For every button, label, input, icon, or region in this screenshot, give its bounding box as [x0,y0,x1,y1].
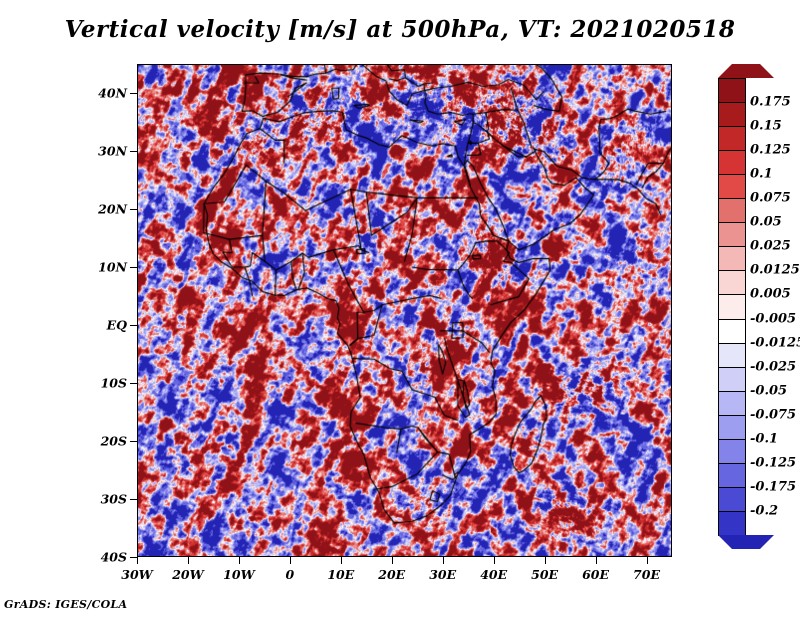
y-axis-tick [130,557,137,558]
y-axis-label: 40S [101,550,127,565]
plot-frame [137,64,672,557]
y-axis-tick [130,151,137,152]
x-axis-label: 30E [429,567,456,582]
x-axis-tick [392,557,393,564]
colorbar-tick-label: -0.175 [750,479,796,494]
colorbar-tick-label: -0.025 [750,359,796,374]
y-axis-label: 40N [98,86,127,101]
colorbar-segment [718,415,746,440]
colorbar-segment [718,343,746,368]
colorbar: 0.1750.150.1250.10.0750.050.0250.01250.0… [718,64,746,549]
y-axis-label: 10N [98,260,127,275]
x-axis-label: 20E [378,567,405,582]
colorbar-segment [718,198,746,223]
colorbar-segment [718,294,746,319]
colorbar-segment [718,319,746,344]
y-axis-label: EQ [107,318,127,333]
x-axis-tick [137,557,138,564]
colorbar-segment [718,439,746,464]
map-plot: 40N30N20N10NEQ10S20S30S40S30W20W10W010E2… [137,64,672,557]
colorbar-tick-label: -0.075 [750,407,796,422]
colorbar-segment [718,150,746,175]
y-axis-label: 10S [101,376,127,391]
colorbar-segment [718,78,746,103]
footer-credit: GrADS: IGES/COLA [4,598,127,611]
colorbar-segment [718,222,746,247]
colorbar-tick-label: 0.175 [750,95,791,110]
colorbar-tick-label: -0.125 [750,455,796,470]
colorbar-segment [718,102,746,127]
colorbar-segment [718,367,746,392]
page-title: Vertical velocity [m/s] at 500hPa, VT: 2… [0,16,800,43]
colorbar-segment [718,246,746,271]
y-axis-label: 20N [98,202,127,217]
y-axis-label: 30S [101,492,127,507]
x-axis-tick [341,557,342,564]
colorbar-tick-label: -0.1 [750,431,778,446]
colorbar-segment [718,126,746,151]
colorbar-tick-label: -0.0125 [750,335,800,350]
colorbar-tick-label: 0.05 [750,215,782,230]
y-axis-tick [130,383,137,384]
x-axis-label: 10E [327,567,354,582]
x-axis-tick [596,557,597,564]
colorbar-tick-label: 0.075 [750,191,791,206]
x-axis-tick [647,557,648,564]
colorbar-tick-label: -0.2 [750,503,778,518]
colorbar-segment [718,174,746,199]
x-axis-label: 10W [223,567,254,582]
y-axis-tick [130,209,137,210]
colorbar-tick-label: 0.125 [750,143,791,158]
colorbar-max-arrow [718,64,774,78]
y-axis-label: 30N [98,144,127,159]
y-axis-tick [130,267,137,268]
x-axis-tick [188,557,189,564]
colorbar-tick-label: -0.05 [750,383,787,398]
colorbar-tick-label: 0.15 [750,119,782,134]
x-axis-tick [239,557,240,564]
y-axis-label: 20S [101,434,127,449]
country-borders-overlay [138,65,671,556]
colorbar-segment [718,463,746,488]
x-axis-tick [290,557,291,564]
x-axis-label: 60E [582,567,609,582]
x-axis-label: 70E [633,567,660,582]
x-axis-label: 50E [531,567,558,582]
y-axis-tick [130,325,137,326]
colorbar-min-arrow [718,535,774,549]
colorbar-tick-label: 0.005 [750,287,791,302]
colorbar-segment [718,487,746,512]
x-axis-label: 40E [480,567,507,582]
colorbar-segment [718,511,746,536]
y-axis-tick [130,93,137,94]
colorbar-tick-label: -0.005 [750,311,796,326]
colorbar-tick-label: 0.0125 [750,263,800,278]
x-axis-tick [494,557,495,564]
x-axis-tick [545,557,546,564]
x-axis-label: 0 [285,567,294,582]
colorbar-tick-label: 0.1 [750,167,773,182]
y-axis-tick [130,441,137,442]
colorbar-segment [718,391,746,416]
colorbar-tick-label: 0.025 [750,239,791,254]
y-axis-tick [130,499,137,500]
x-axis-tick [443,557,444,564]
x-axis-label: 20W [172,567,203,582]
x-axis-label: 30W [121,567,152,582]
colorbar-segment [718,270,746,295]
